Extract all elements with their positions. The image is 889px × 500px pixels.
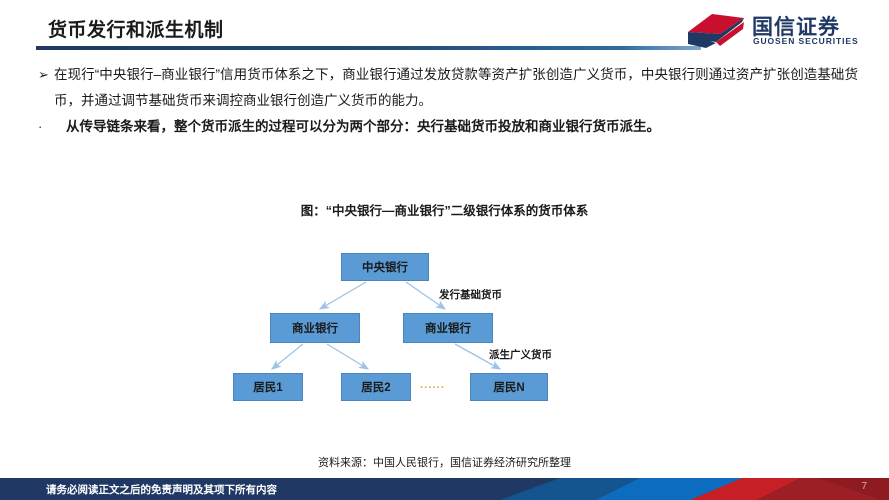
edge-central-to-comm1 bbox=[320, 282, 366, 309]
guosen-logo-mark-icon bbox=[686, 12, 746, 50]
edge-comm1-to-res2 bbox=[327, 344, 368, 369]
company-logo: 国信证券 GUOSEN SECURITIES bbox=[686, 10, 861, 50]
body-paragraph-2-text: 从传导链条来看，整个货币派生的过程可以分为两个部分：央行基础货币投放和商业银行货… bbox=[66, 115, 660, 139]
diagram-node-resident-1: 居民1 bbox=[233, 373, 303, 401]
footer-disclaimer: 请务必阅读正文之后的免责声明及其项下所有内容 bbox=[46, 482, 277, 497]
body-paragraph-2: · 从传导链条来看，整个货币派生的过程可以分为两个部分：央行基础货币投放和商业银… bbox=[38, 115, 858, 139]
bank-hierarchy-diagram: 中央银行 商业银行 商业银行 居民1 居民2 居民N 发行基础货币 派生广义货币… bbox=[0, 235, 889, 425]
slide-header: 货币发行和派生机制 国信证券 GUOSEN SECURITIES bbox=[0, 0, 889, 56]
edge-label-broad-money: 派生广义货币 bbox=[489, 347, 552, 362]
body-paragraph-1: ➢ 在现行“中央银行–商业银行”信用货币体系之下，商业银行通过发放贷款等资产扩张… bbox=[38, 62, 858, 114]
edge-comm1-to-res1 bbox=[272, 344, 303, 369]
title-divider bbox=[36, 46, 701, 50]
source-note: 资料来源：中国人民银行，国信证券经济研究所整理 bbox=[0, 454, 889, 470]
edge-label-base-money: 发行基础货币 bbox=[439, 287, 502, 302]
slide-footer: 请务必阅读正文之后的免责声明及其项下所有内容 7 bbox=[0, 478, 889, 500]
diagram-node-central-bank: 中央银行 bbox=[341, 253, 429, 281]
arrow-bullet-icon: ➢ bbox=[38, 62, 54, 88]
figure-caption: 图：“中央银行—商业银行”二级银行体系的货币体系 bbox=[0, 200, 889, 219]
logo-text-english: GUOSEN SECURITIES bbox=[753, 36, 859, 46]
diagram-ellipsis: ······ bbox=[420, 382, 445, 394]
dot-bullet-icon: · bbox=[38, 115, 66, 139]
page-number: 7 bbox=[861, 481, 867, 492]
diagram-node-commercial-bank-2: 商业银行 bbox=[403, 313, 493, 343]
body-paragraph-1-text: 在现行“中央银行–商业银行”信用货币体系之下，商业银行通过发放贷款等资产扩张创造… bbox=[54, 62, 858, 114]
diagram-node-resident-2: 居民2 bbox=[341, 373, 411, 401]
page-title: 货币发行和派生机制 bbox=[48, 15, 224, 42]
slide-root: 货币发行和派生机制 国信证券 GUOSEN SECURITIES ➢ 在现行“中… bbox=[0, 0, 889, 500]
diagram-node-resident-n: 居民N bbox=[470, 373, 548, 401]
diagram-node-commercial-bank-1: 商业银行 bbox=[270, 313, 360, 343]
